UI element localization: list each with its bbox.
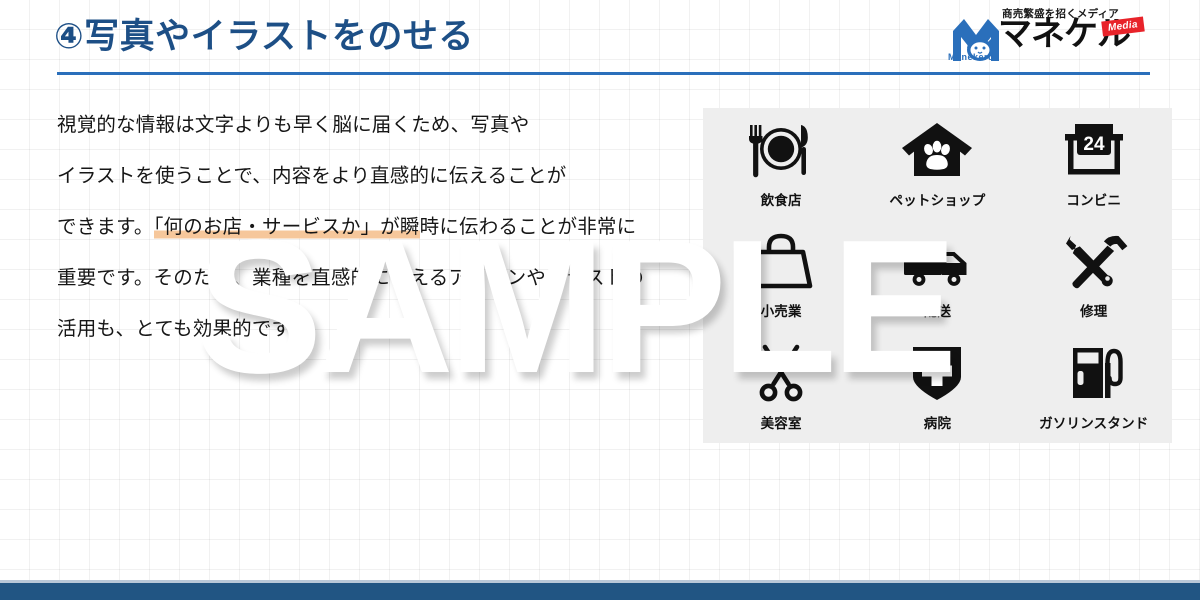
icon-cell-repair: 修理 <box>1016 220 1172 332</box>
shopping-bag-icon <box>744 230 818 294</box>
industry-icon-panel: 飲食店 <box>703 108 1172 443</box>
convenience-store-24-icon: 24 <box>1057 119 1131 183</box>
body-line-4: 重要です。そのため、業種を直感的に伝えるアイコンやイラストの <box>57 253 697 304</box>
icon-label: 小売業 <box>761 300 802 320</box>
restaurant-cutlery-icon <box>744 119 818 183</box>
icon-label: ガソリンスタンド <box>1039 412 1148 432</box>
icon-cell-convenience-store: 24 コンビニ <box>1016 108 1172 220</box>
slide-canvas: ④写真やイラストをのせる 商売繁盛を招くメディア Manekeru マネケル M… <box>0 0 1200 600</box>
page-title: ④写真やイラストをのせる <box>54 8 474 59</box>
icon-cell-hair-salon: 美容室 <box>703 331 859 443</box>
svg-text:24: 24 <box>1083 134 1105 155</box>
icon-label: コンビニ <box>1066 189 1121 209</box>
icon-cell-hospital: 病院 <box>859 331 1015 443</box>
icon-label: 配送 <box>924 300 951 320</box>
delivery-truck-icon <box>900 230 974 294</box>
body-line-3: できます。「何のお店・サービスか」が瞬時に伝わることが非常に <box>57 202 697 253</box>
body-line-5: 活用も、とても効果的です。 <box>57 304 697 355</box>
pet-shop-house-paw-icon <box>900 119 974 183</box>
icon-cell-delivery: 配送 <box>859 220 1015 332</box>
hospital-shield-cross-icon <box>900 342 974 406</box>
footer-bar <box>0 583 1200 600</box>
logo-romaji: Manekeru <box>948 52 994 62</box>
icon-label: ペットショップ <box>890 189 986 209</box>
title-underline-rule <box>57 72 1150 75</box>
icon-label: 飲食店 <box>761 189 802 209</box>
scissors-icon <box>744 342 818 406</box>
industry-icon-grid: 飲食店 <box>703 108 1172 443</box>
icon-cell-gas-station: ガソリンスタンド <box>1016 331 1172 443</box>
repair-wrench-hammer-icon <box>1057 230 1131 294</box>
icon-label: 美容室 <box>761 412 802 432</box>
body-paragraph: 視覚的な情報は文字よりも早く脳に届くため、写真や イラストを使うことで、内容をよ… <box>57 100 697 355</box>
icon-label: 病院 <box>924 412 951 432</box>
icon-cell-restaurant: 飲食店 <box>703 108 859 220</box>
icon-label: 修理 <box>1080 300 1107 320</box>
fuel-pump-icon <box>1057 342 1131 406</box>
body-line-1: 視覚的な情報は文字よりも早く脳に届くため、写真や <box>57 100 697 151</box>
brand-logo: 商売繁盛を招くメディア Manekeru マネケル Media <box>950 5 1165 69</box>
icon-cell-pet-shop: ペットショップ <box>859 108 1015 220</box>
body-line-3-suffix: 時に伝わることが非常に <box>420 216 637 238</box>
icon-cell-retail: 小売業 <box>703 220 859 332</box>
body-line-3-prefix: できます。 <box>57 216 154 238</box>
body-line-2: イラストを使うことで、内容をより直感的に伝えることが <box>57 151 697 202</box>
body-line-3-highlighted: 「何のお店・サービスか」が瞬 <box>154 216 420 239</box>
